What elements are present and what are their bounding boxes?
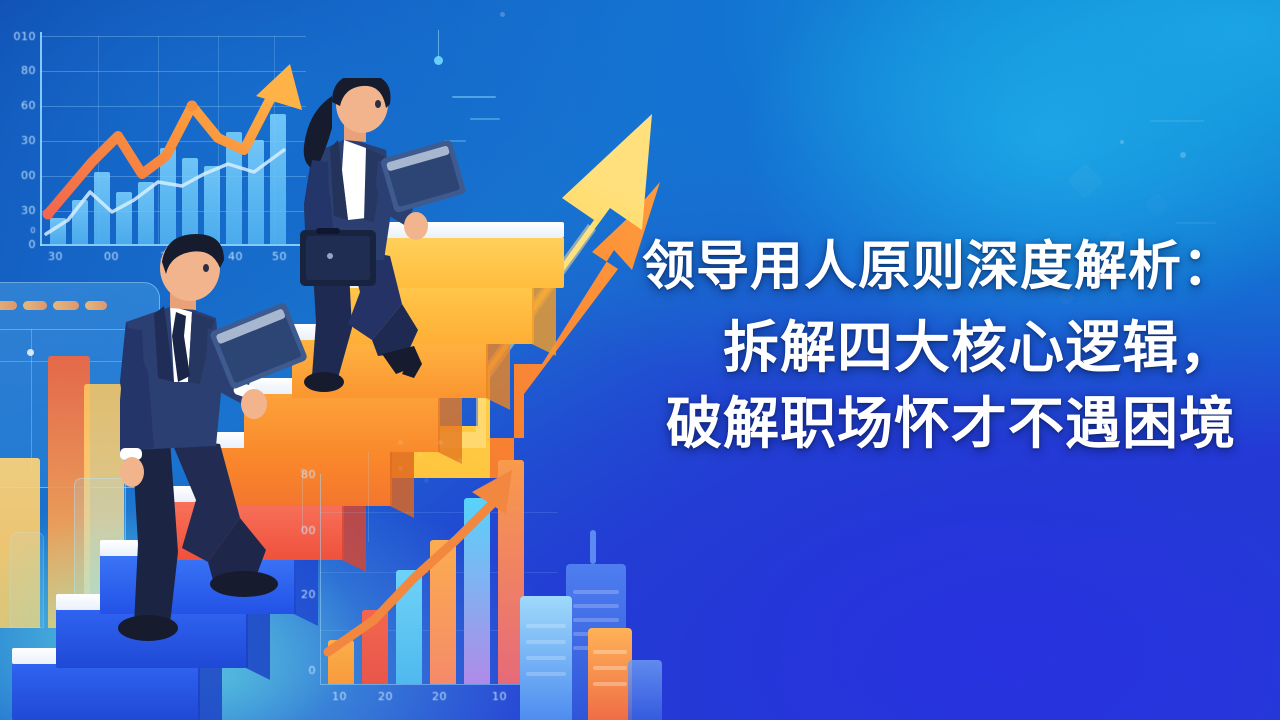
page-title: 领导用人原则深度解析： 拆解四大核心逻辑， 破解职场怀才不遇困境 xyxy=(532,236,1236,457)
businesswoman-figure xyxy=(286,78,501,398)
title-line-2: 拆解四大核心逻辑， xyxy=(532,315,1236,381)
building xyxy=(628,660,662,720)
antenna xyxy=(590,530,596,564)
building xyxy=(588,628,632,720)
poster-canvas: 010 80 60 30 00 30 0 0 xyxy=(0,0,1280,720)
building xyxy=(520,596,572,720)
title-line-3: 破解职场怀才不遇困境 xyxy=(532,391,1236,457)
title-line-1: 领导用人原则深度解析： xyxy=(532,236,1236,299)
